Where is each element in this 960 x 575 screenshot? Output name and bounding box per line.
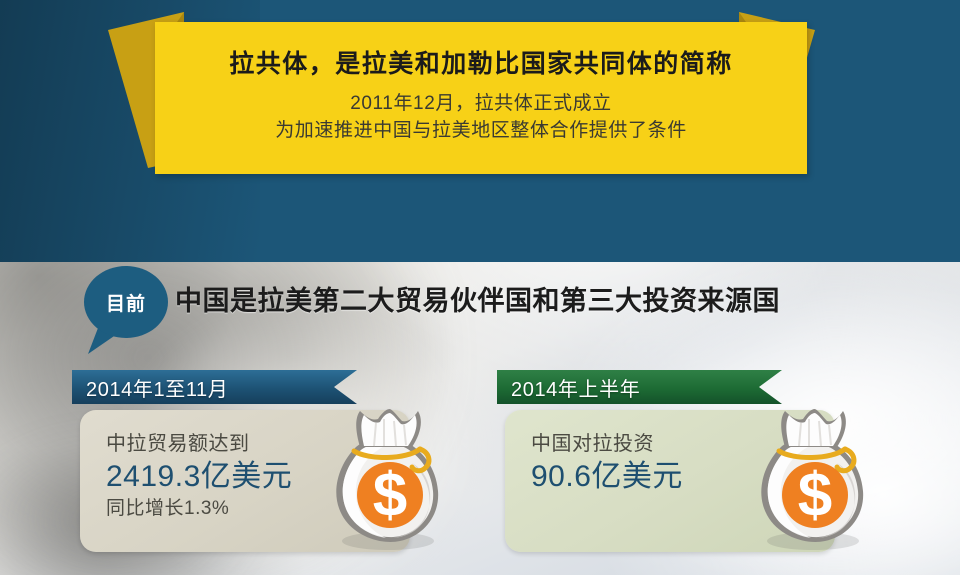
- stat-card-investment-value: 90.6亿美元: [531, 458, 683, 496]
- stat-card-trade-value: 2419.3亿美元: [106, 458, 292, 496]
- stat-card-investment-caption: 中国对拉投资: [531, 432, 683, 456]
- money-bag-icon: $: [745, 403, 877, 551]
- money-bag-dollar-symbol: $: [373, 461, 407, 530]
- banner-subtitle: 2011年12月，拉共体正式成立 为加速推进中国与拉美地区整体合作提供了条件: [275, 91, 687, 145]
- money-bag-dollar-symbol: $: [798, 461, 832, 530]
- stat-card-trade-header: 2014年1至11月: [72, 370, 357, 404]
- banner-ribbon: 拉共体，是拉美和加勒比国家共同体的简称 2011年12月，拉共体正式成立 为加速…: [0, 0, 960, 200]
- callout-bubble-label: 目前: [84, 266, 168, 338]
- callout-headline: 中国是拉美第二大贸易伙伴国和第三大投资来源国: [175, 279, 780, 318]
- banner-panel: 拉共体，是拉美和加勒比国家共同体的简称 2011年12月，拉共体正式成立 为加速…: [155, 22, 807, 174]
- stat-card-investment-period: 2014年上半年: [511, 373, 640, 402]
- stat-card-trade-footnote: 同比增长1.3%: [106, 498, 292, 521]
- callout-bubble: 目前: [84, 266, 168, 338]
- banner-sub-line-1: 2011年12月，拉共体正式成立: [275, 91, 687, 118]
- infographic-canvas: 拉共体，是拉美和加勒比国家共同体的简称 2011年12月，拉共体正式成立 为加速…: [0, 0, 960, 575]
- stat-card-trade-caption: 中拉贸易额达到: [106, 432, 292, 456]
- stat-card-trade-period: 2014年1至11月: [86, 373, 228, 402]
- stat-card-investment-header: 2014年上半年: [497, 370, 782, 404]
- banner-title: 拉共体，是拉美和加勒比国家共同体的简称: [229, 51, 733, 79]
- banner-sub-line-2: 为加速推进中国与拉美地区整体合作提供了条件: [275, 118, 687, 145]
- money-bag-icon: $: [320, 403, 452, 551]
